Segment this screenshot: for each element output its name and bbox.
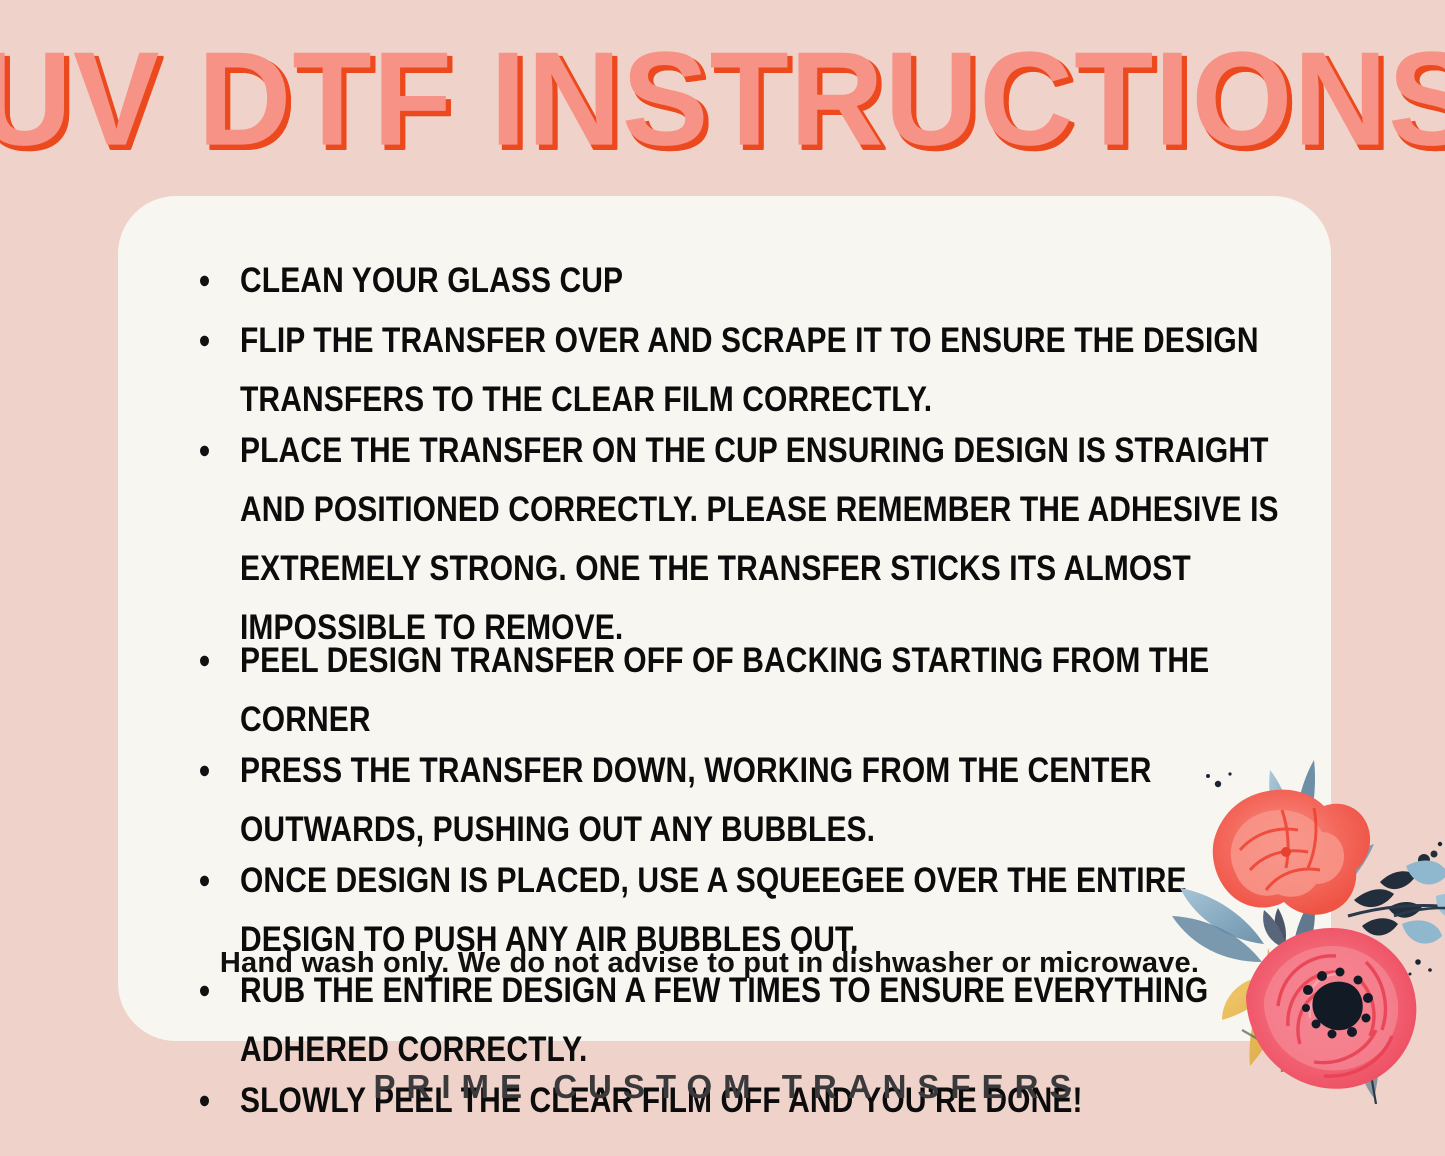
list-item: Clean your glass cup: [196, 252, 1306, 311]
list-item: Peel design transfer off of backing star…: [196, 632, 1306, 750]
list-item: Press the transfer down, working from th…: [196, 742, 1306, 860]
step-text: Peel design transfer off of backing star…: [240, 632, 1306, 750]
bullet-icon: [200, 446, 209, 457]
step-text: Flip the transfer over and scrape it to …: [240, 312, 1306, 430]
bullet-icon: [200, 336, 209, 347]
bullet-icon: [200, 276, 209, 287]
bullet-icon: [200, 766, 209, 777]
step-text: Clean your glass cup: [240, 252, 1306, 311]
navy-berry-sprig-icon: [1348, 851, 1440, 936]
bullet-icon: [200, 986, 209, 997]
title-container: UV DTF INSTRUCTIONS: [0, 36, 1445, 166]
list-item: Place the transfer on the cup ensuring d…: [196, 422, 1306, 658]
page-title: UV DTF INSTRUCTIONS: [0, 32, 1445, 166]
instruction-steps-list: Clean your glass cup Flip the transfer o…: [196, 252, 1306, 1132]
instructions-card: Clean your glass cup Flip the transfer o…: [118, 196, 1331, 1041]
bullet-icon: [200, 876, 209, 887]
list-item: Flip the transfer over and scrape it to …: [196, 312, 1306, 430]
light-blue-berry-sprig-icon: [1394, 860, 1445, 943]
step-text: Press the transfer down, working from th…: [240, 742, 1306, 860]
brand-footer: PRIME CUSTOM TRANSFERS: [0, 1068, 1445, 1106]
step-text: Place the transfer on the cup ensuring d…: [240, 422, 1306, 658]
poster-canvas: UV DTF INSTRUCTIONS Clean your glass cup…: [0, 0, 1445, 1156]
bullet-icon: [200, 656, 209, 667]
care-instructions-note: Hand wash only. We do not advise to put …: [118, 946, 1331, 980]
